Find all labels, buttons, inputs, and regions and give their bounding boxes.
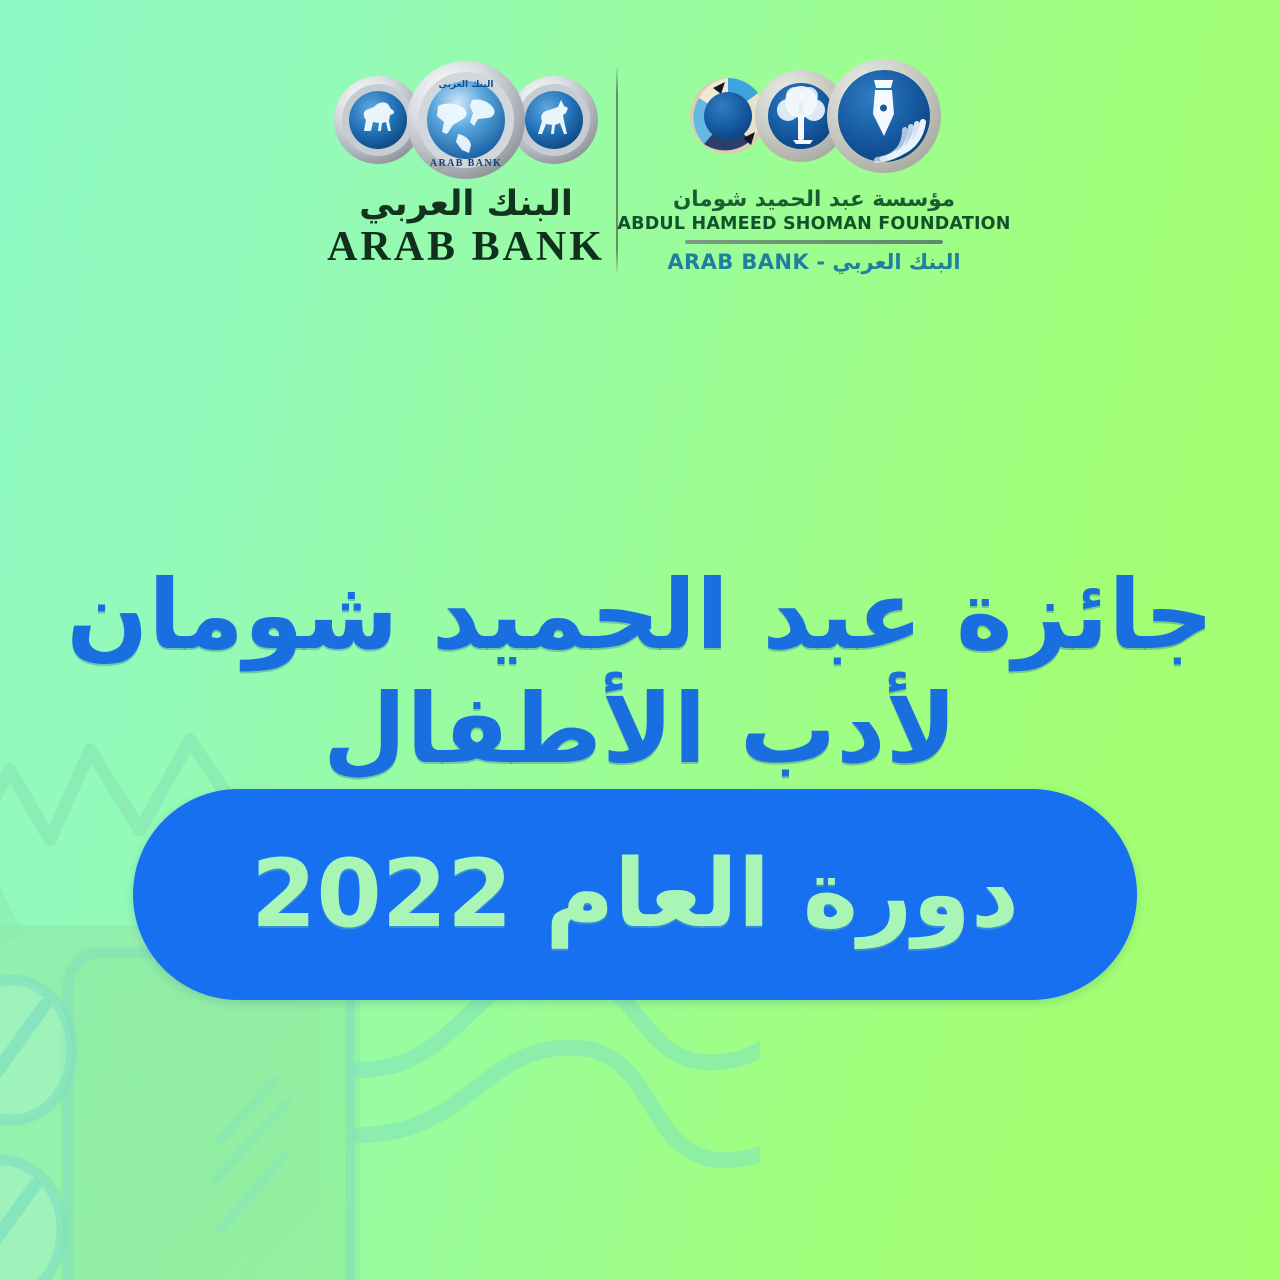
mosaic-circle-icon <box>690 78 766 154</box>
shoman-subtitle: البنك العربي - ARAB BANK <box>667 251 960 274</box>
shoman-foundation-logo: مؤسسة عبد الحميد شومان ABDUL HAMEED SHOM… <box>664 58 964 274</box>
arab-bank-logo: البنك العربي ARAB BANK البنك العربي ARAB… <box>316 58 616 268</box>
page-title: جائزة عبد الحميد شومان لأدب الأطفال <box>0 559 1280 786</box>
shoman-divider-rule <box>685 240 943 244</box>
edition-year-label: دورة العام 2022 <box>251 848 1019 942</box>
shoman-foundation-emblem-icon <box>683 58 945 183</box>
page-title-line-1: جائزة عبد الحميد شومان <box>0 559 1280 672</box>
arab-bank-emblem-icon: البنك العربي ARAB BANK <box>326 58 606 183</box>
page-title-line-2: لأدب الأطفال <box>0 673 1280 786</box>
shoman-name-en: ABDUL HAMEED SHOMAN FOUNDATION <box>617 215 1010 234</box>
pen-nib-circle-icon <box>827 59 941 173</box>
globe-medallion-icon: البنك العربي ARAB BANK <box>407 61 525 179</box>
arab-bank-wordmark-ar: البنك العربي <box>359 187 573 222</box>
logo-header: البنك العربي ARAB BANK البنك العربي ARAB… <box>0 58 1280 288</box>
svg-text:البنك العربي: البنك العربي <box>439 80 494 90</box>
shoman-name-ar: مؤسسة عبد الحميد شومان <box>673 188 955 213</box>
logo-divider <box>616 68 618 273</box>
arab-bank-wordmark-en: ARAB BANK <box>327 226 605 268</box>
poster-canvas: البنك العربي ARAB BANK البنك العربي ARAB… <box>0 0 1280 1280</box>
svg-text:ARAB BANK: ARAB BANK <box>430 158 502 169</box>
edition-year-button[interactable]: دورة العام 2022 <box>133 789 1137 1000</box>
